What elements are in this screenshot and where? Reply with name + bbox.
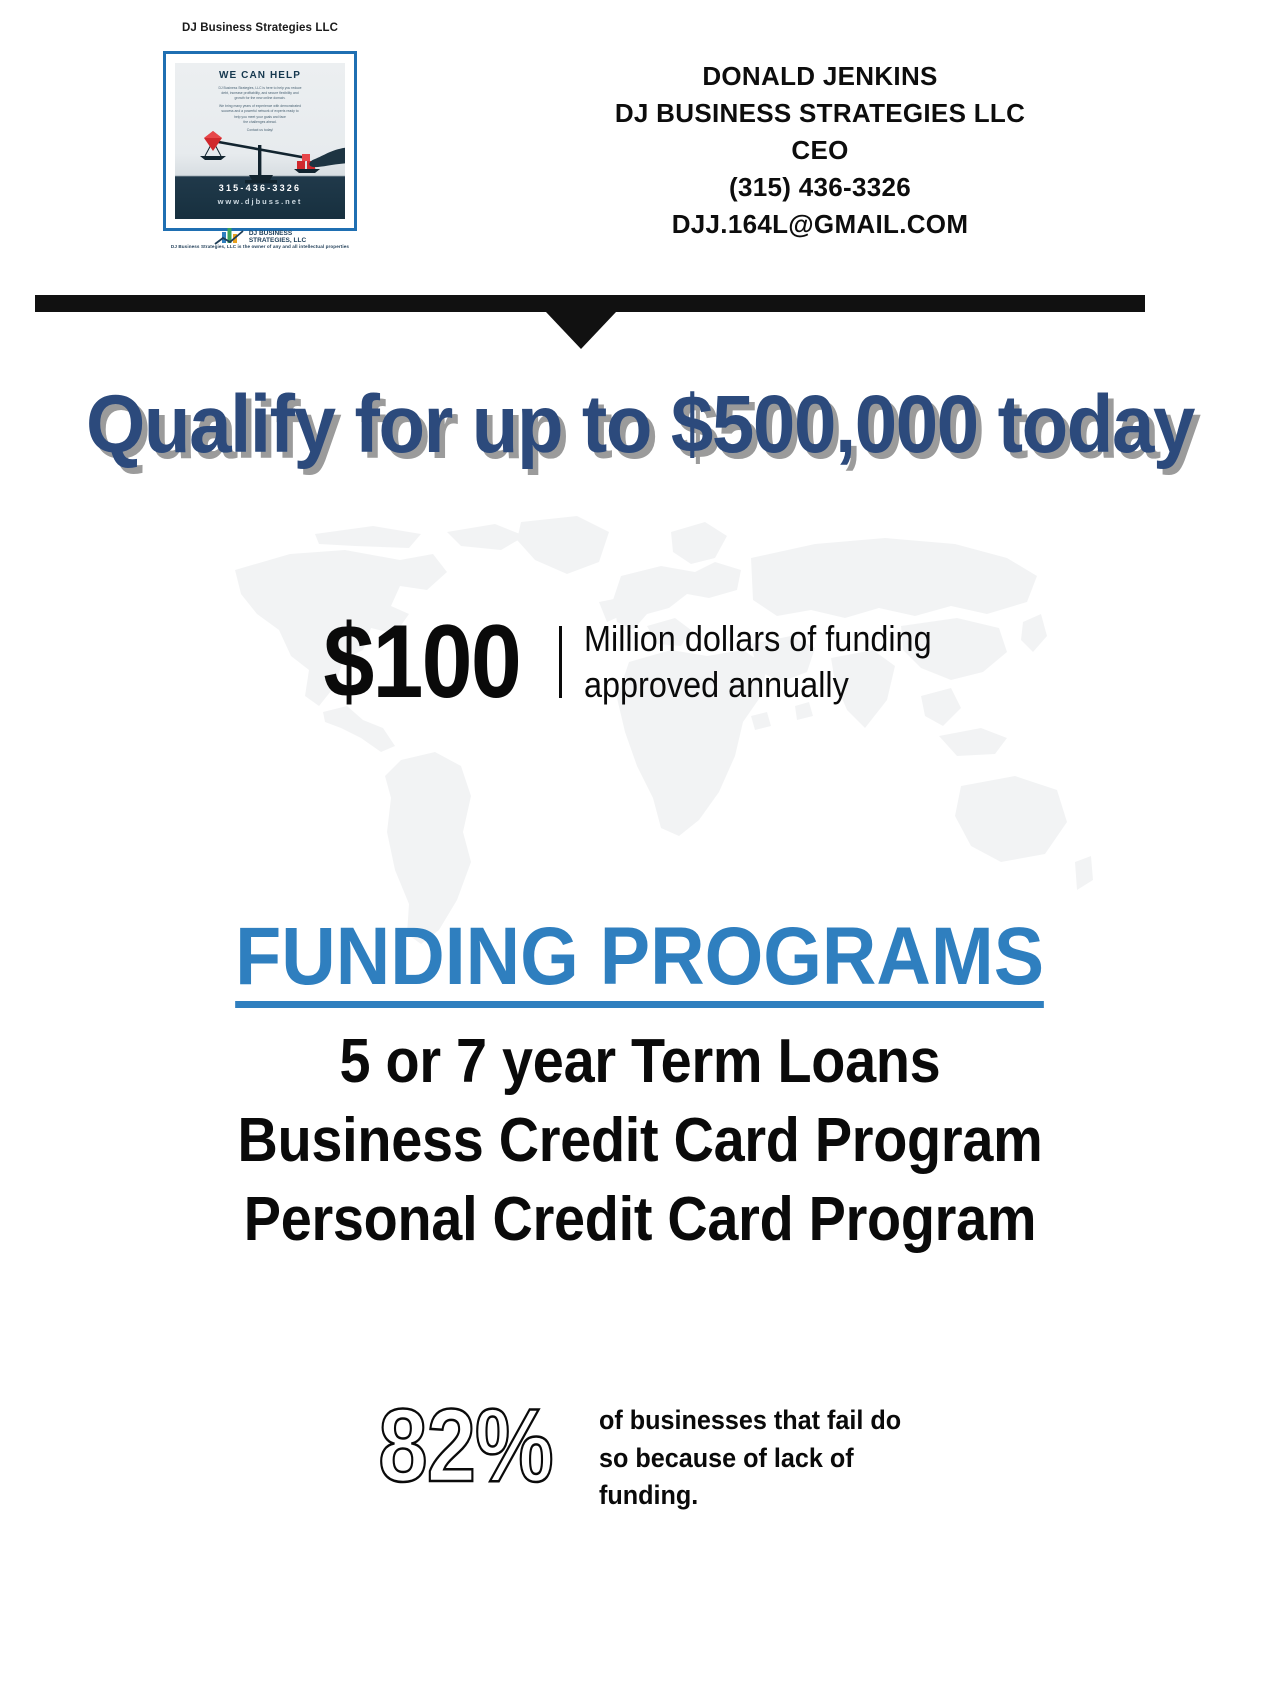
contact-block: DONALD JENKINS DJ BUSINESS STRATEGIES LL… — [540, 58, 1280, 243]
funding-stat-amount: $100 — [323, 610, 520, 714]
divider-bar-with-arrow — [0, 295, 1280, 355]
ad-card-heading: WE CAN HELP — [175, 70, 345, 81]
brand-line-1: DJ BUSINESS — [249, 230, 306, 237]
logo-frame: WE CAN HELP DJ Business Strategies, LLC … — [163, 51, 357, 231]
contact-company: DJ BUSINESS STRATEGIES LLC — [540, 95, 1100, 132]
arrow-down-icon — [546, 312, 616, 349]
contact-title: CEO — [540, 132, 1100, 169]
ad-card-website: www.djbuss.net — [175, 197, 345, 206]
failure-caption-line-3: funding. — [599, 1477, 901, 1515]
funding-caption-line-1: Million dollars of funding — [584, 616, 932, 662]
funding-programs-list: 5 or 7 year Term Loans Business Credit C… — [0, 1022, 1280, 1260]
funding-caption-line-2: approved annually — [584, 662, 932, 708]
flyer-page: DJ Business Strategies LLC WE CAN HELP D… — [0, 0, 1280, 1707]
stat-divider — [559, 626, 562, 698]
ad-card-phone: 315-436-3326 — [175, 183, 345, 193]
contact-name: DONALD JENKINS — [540, 58, 1100, 95]
funding-stat: $100 Million dollars of funding approved… — [0, 610, 1280, 714]
funding-stat-caption: Million dollars of funding approved annu… — [584, 616, 932, 708]
funding-programs-title: FUNDING PROGRAMS — [236, 915, 1045, 1008]
failure-caption-line-1: of businesses that fail do — [599, 1402, 901, 1440]
program-item: Personal Credit Card Program — [64, 1180, 1216, 1259]
world-map-watermark — [195, 510, 1095, 980]
intellectual-property-notice: DJ Business Strategies, LLC is the owner… — [150, 244, 370, 249]
funding-programs-section: FUNDING PROGRAMS 5 or 7 year Term Loans … — [0, 915, 1280, 1260]
logo-company-name: DJ Business Strategies LLC — [150, 22, 370, 34]
balance-scale-illustration — [175, 125, 345, 187]
logo-block: DJ Business Strategies LLC WE CAN HELP D… — [150, 22, 370, 249]
page-title: Qualify for up to $500,000 today — [45, 378, 1235, 472]
failure-stat-caption: of businesses that fail do so because of… — [599, 1402, 901, 1515]
black-divider-bar — [35, 295, 1145, 312]
header: DJ Business Strategies LLC WE CAN HELP D… — [0, 0, 1280, 292]
failure-stat-percent: 82% — [379, 1394, 553, 1498]
program-item: 5 or 7 year Term Loans — [64, 1022, 1216, 1101]
failure-stat: 82% of businesses that fail do so becaus… — [0, 1392, 1280, 1515]
advertisement-card-image: WE CAN HELP DJ Business Strategies, LLC … — [175, 63, 345, 219]
contact-phone[interactable]: (315) 436-3326 — [540, 169, 1100, 206]
brand-logo-text: DJ BUSINESS STRATEGIES, LLC — [249, 230, 306, 245]
contact-email[interactable]: DJJ.164L@GMAIL.COM — [540, 206, 1100, 243]
failure-caption-line-2: so because of lack of — [599, 1440, 901, 1478]
program-item: Business Credit Card Program — [64, 1101, 1216, 1180]
